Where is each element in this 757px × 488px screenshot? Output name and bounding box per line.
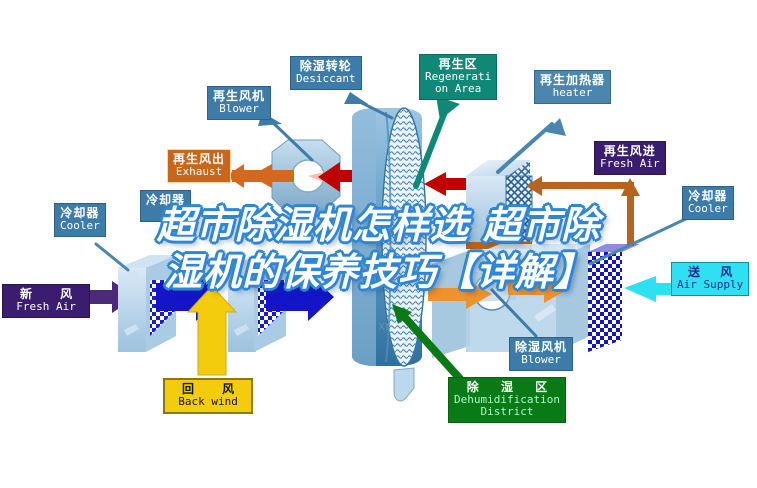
label-regeneration-area-en2: on Area — [425, 83, 491, 95]
label-regen-heater[interactable]: 再生加热器 heater — [534, 70, 611, 104]
label-desiccant-wheel-en: Desiccant — [296, 73, 356, 85]
label-dehum-blower-en: Blower — [515, 354, 567, 366]
label-regen-blower-cn: 再生风机 — [213, 90, 265, 103]
label-fresh-air-en: Fresh Air — [8, 301, 84, 313]
fresh-air-in-arrow — [526, 176, 640, 246]
label-dehumidification-district-en2: District — [454, 406, 560, 418]
svg-text:xr: xr — [378, 319, 390, 333]
label-desiccant-wheel[interactable]: 除湿转轮 Desiccant — [290, 56, 362, 90]
label-regen-blower-en: Blower — [213, 103, 265, 115]
label-dehumidification-district-cn: 除 湿 区 — [454, 381, 560, 394]
label-cooler-left-cn: 冷却器 — [60, 207, 100, 220]
dehumidifier-schematic-art: xr — [0, 0, 757, 488]
label-cooler-left[interactable]: 冷却器 Cooler — [54, 203, 106, 237]
label-dehum-blower-cn: 除湿风机 — [515, 341, 567, 354]
label-regen-fresh-air-en: Fresh Air — [600, 158, 660, 170]
label-back-wind-en: Back wind — [170, 396, 246, 408]
label-exhaust-cn: 再生风出 — [173, 153, 225, 166]
label-dehum-blower[interactable]: 除湿风机 Blower — [509, 337, 573, 371]
label-fresh-air-cn: 新 风 — [8, 288, 84, 301]
label-regeneration-area-cn: 再生区 — [425, 58, 491, 71]
label-fresh-air[interactable]: 新 风 Fresh Air — [2, 284, 90, 318]
label-regen-heater-cn: 再生加热器 — [540, 74, 605, 87]
label-air-supply-cn: 送 风 — [677, 266, 743, 279]
label-dehumidification-district[interactable]: 除 湿 区 Dehumidification District — [448, 377, 566, 423]
label-air-supply-en: Air Supply — [677, 279, 743, 291]
label-exhaust-en: Exhaust — [173, 166, 225, 178]
label-cooler-mid-cn: 冷却器 — [146, 194, 185, 207]
label-regen-fresh-air[interactable]: 再生风进 Fresh Air — [594, 141, 666, 175]
label-regeneration-area[interactable]: 再生区 Regenerati on Area — [419, 54, 497, 100]
label-air-supply[interactable]: 送 风 Air Supply — [671, 262, 749, 296]
label-desiccant-wheel-cn: 除湿转轮 — [296, 60, 356, 73]
label-cooler-right-cn: 冷却器 — [688, 190, 728, 203]
label-cooler-right-en: Cooler — [688, 203, 728, 215]
diagram-canvas: xr — [0, 0, 757, 488]
label-cooler-right[interactable]: 冷却器 Cooler — [682, 186, 734, 220]
label-back-wind[interactable]: 回 风 Back wind — [163, 378, 253, 414]
desiccant-rotor: xr — [352, 108, 426, 401]
label-regen-fresh-air-cn: 再生风进 — [600, 145, 660, 158]
cooler-unit-2 — [228, 255, 334, 352]
label-cooler-left-en: Cooler — [60, 220, 100, 232]
label-cooler-mid[interactable]: 冷却器 — [140, 190, 191, 222]
label-exhaust[interactable]: 再生风出 Exhaust — [167, 149, 231, 183]
label-regen-heater-en: heater — [540, 87, 605, 99]
label-back-wind-cn: 回 风 — [170, 383, 246, 396]
label-regen-blower[interactable]: 再生风机 Blower — [207, 86, 271, 120]
